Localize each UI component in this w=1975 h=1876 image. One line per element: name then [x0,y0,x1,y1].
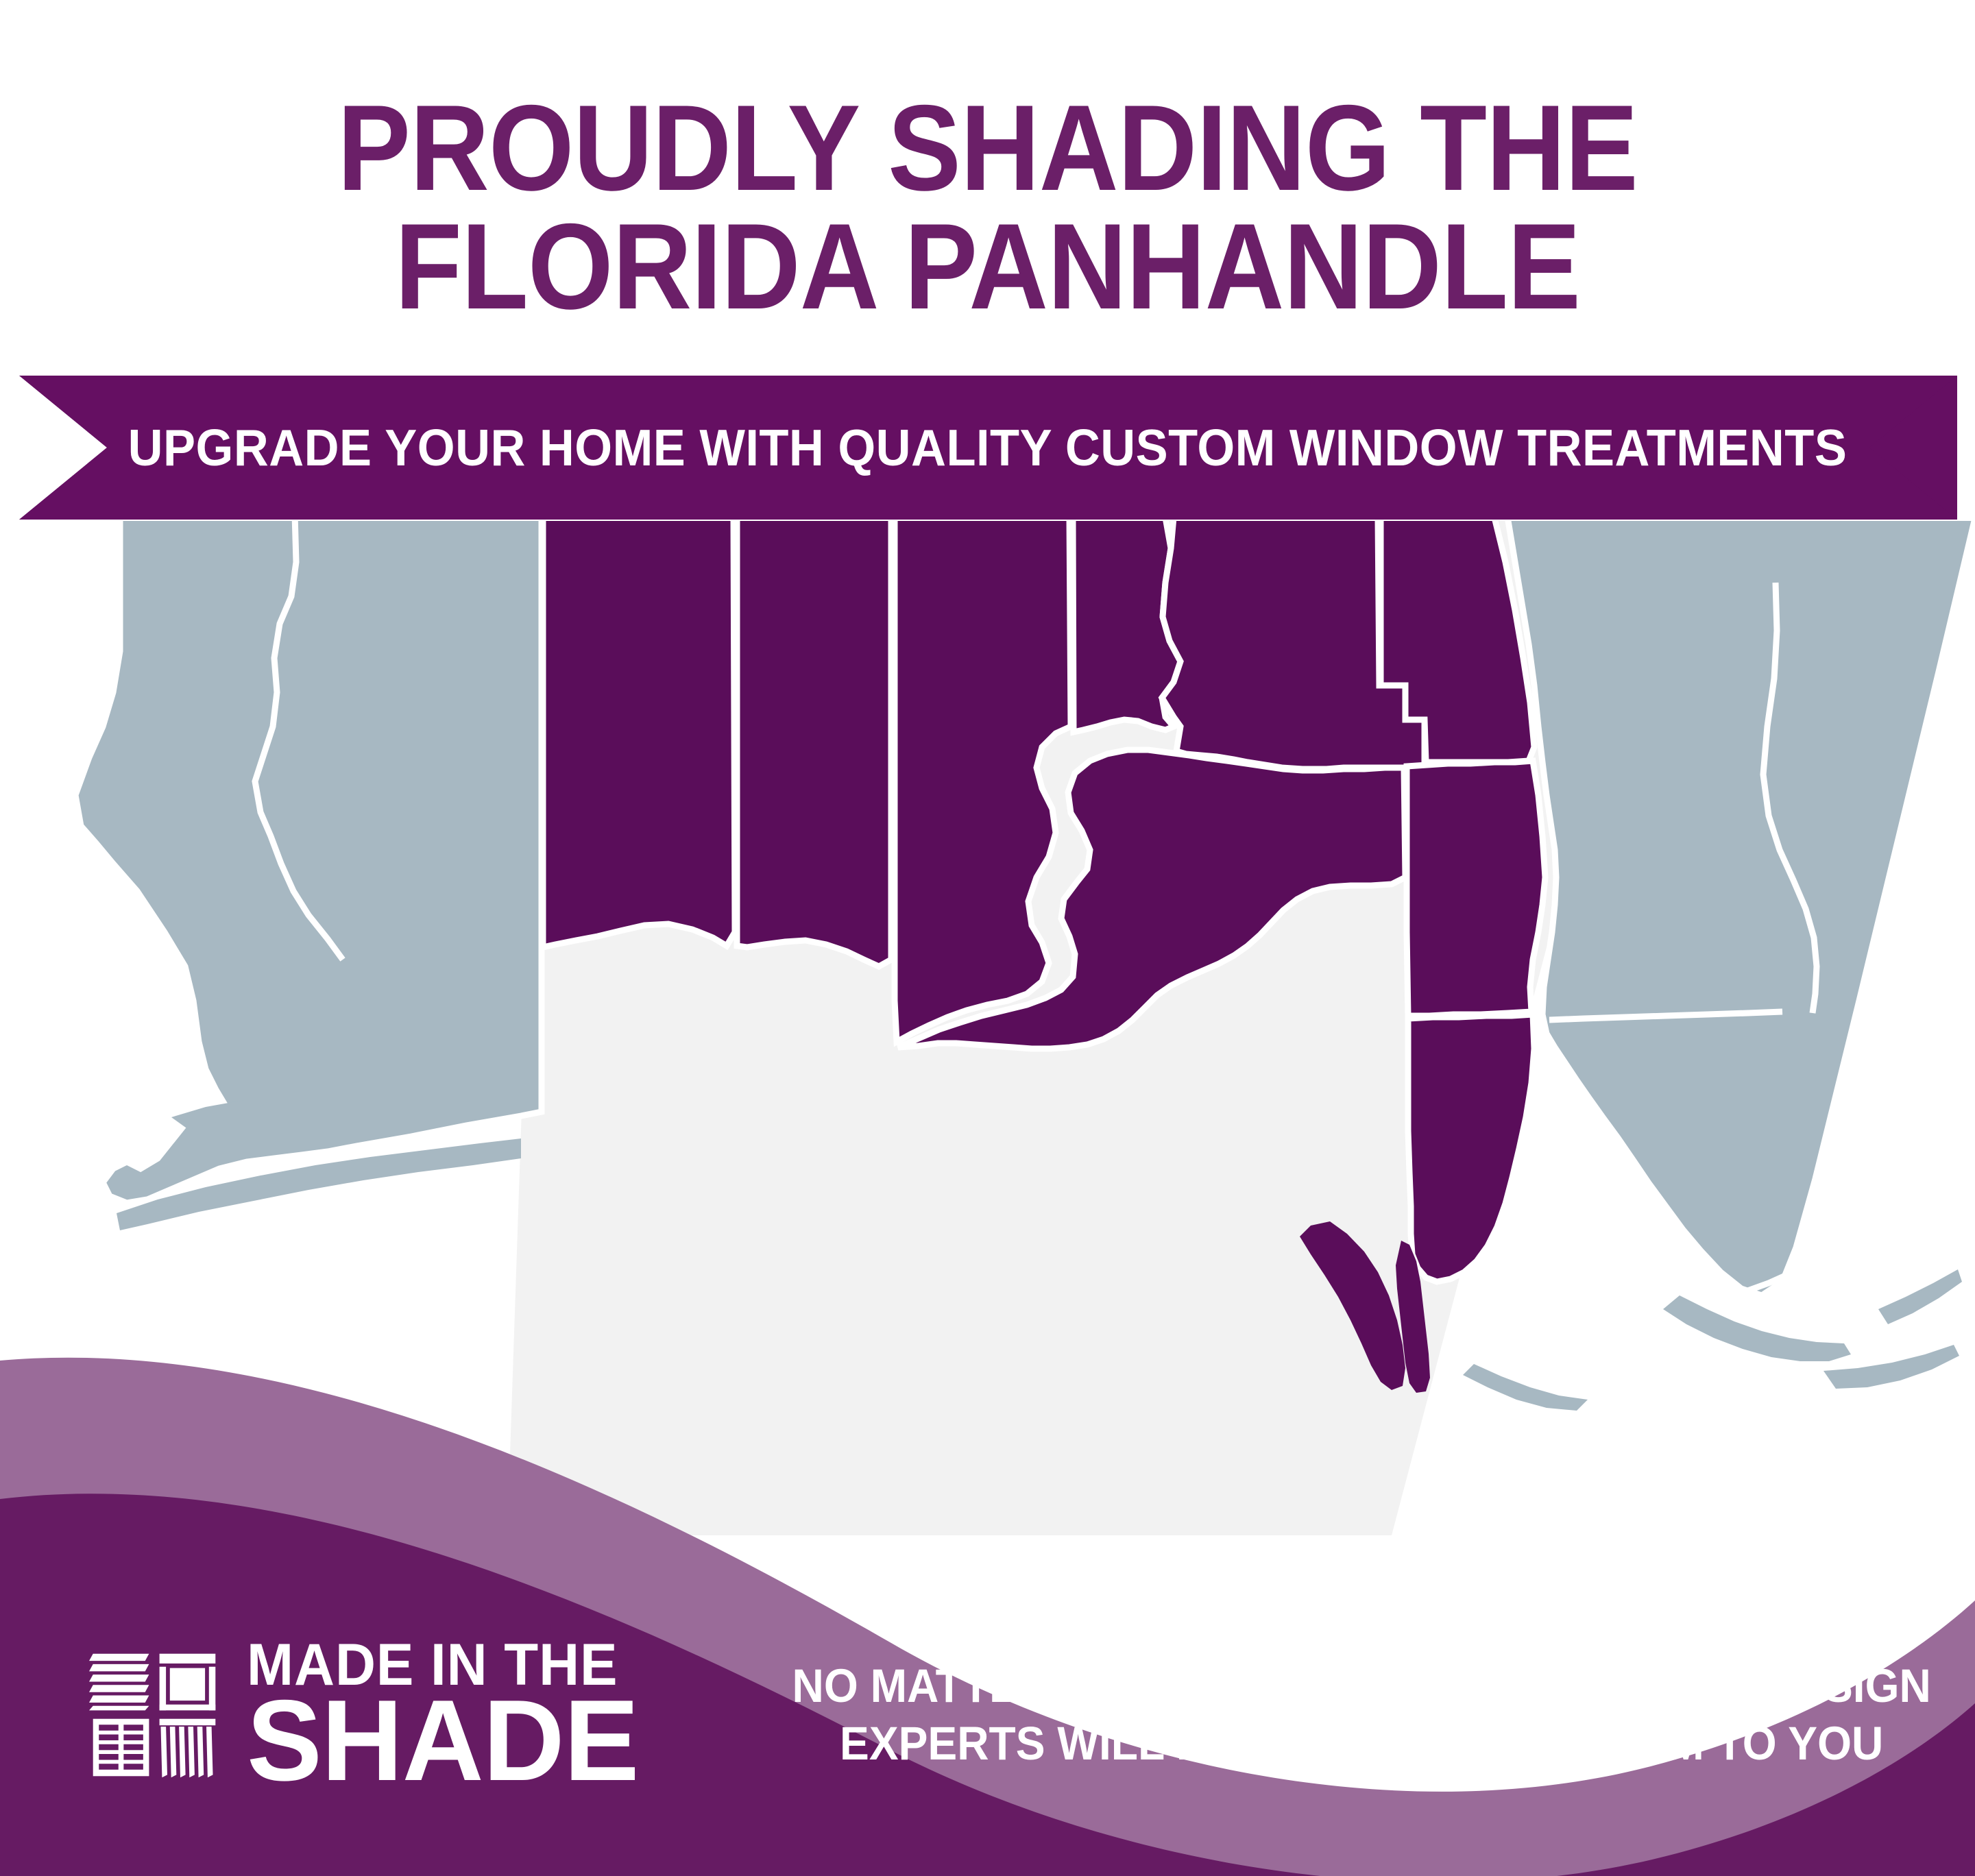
map-region-west-outside [75,521,542,1230]
window-treatments-icon-grid [89,1650,219,1780]
page-title: PROUDLY SHADING THE FLORIDA PANHANDLE [99,89,1876,326]
subtitle-ribbon [0,376,1975,520]
headline-line-1: PROUDLY SHADING THE [99,89,1876,208]
roller-shade-icon [160,1654,216,1711]
headline-line-2: FLORIDA PANHANDLE [99,208,1876,326]
footer: MADE IN THE SHADE NO MATTER WHERE YOU’RE… [0,1554,1975,1876]
brand-name: MADE IN THE SHADE [247,1640,646,1790]
footer-tagline: NO MATTER WHERE YOU’RE LOCATED, OUR DESI… [792,1657,1931,1773]
brand-name-line-2: SHADE [247,1691,638,1790]
cellular-shade-icon [93,1719,149,1777]
tagline-line-2: EXPERTS WILL BRING THE SHOWROOM TO YOU [792,1715,1931,1773]
tagline-line-1: NO MATTER WHERE YOU’RE LOCATED, OUR DESI… [792,1657,1931,1715]
vertical-blinds-icon [160,1719,216,1778]
horizontal-blinds-icon [89,1654,149,1711]
logo-icon-svg [89,1650,219,1780]
brand-logo[interactable]: MADE IN THE SHADE [89,1640,646,1790]
poster-canvas: PROUDLY SHADING THE FLORIDA PANHANDLE UP… [0,0,1975,1876]
